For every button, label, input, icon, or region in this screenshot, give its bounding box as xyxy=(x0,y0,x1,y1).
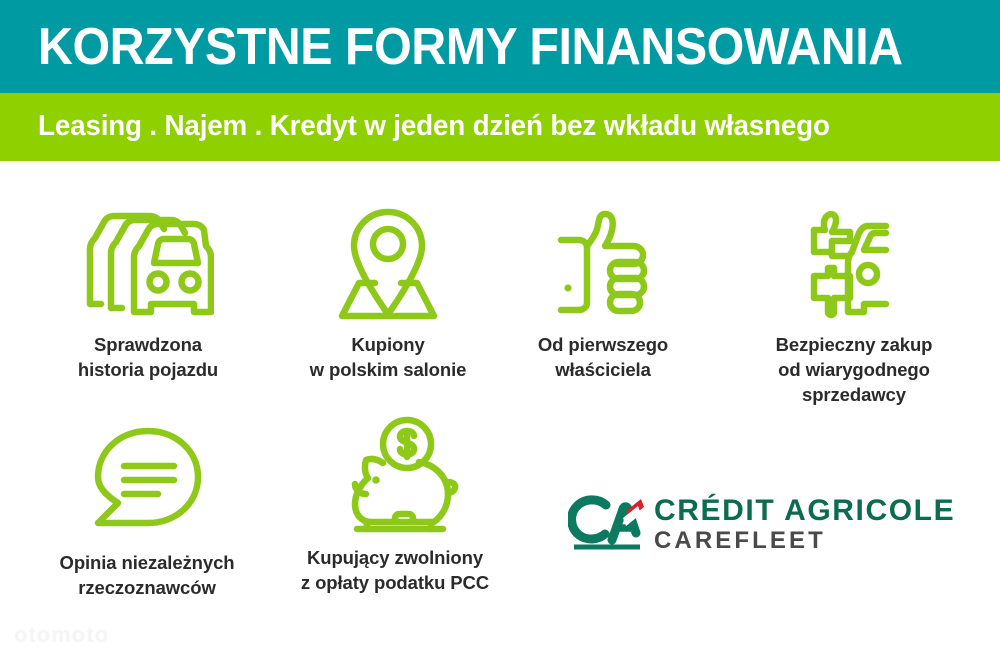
logo-product-name: CAREFLEET xyxy=(654,527,954,555)
piggy-bank-icon xyxy=(331,416,459,538)
feature-item-polish-dealership: Kupiony w polskim salonie xyxy=(268,201,508,382)
stacked-cars-icon xyxy=(82,208,214,320)
feature-caption: Opinia niezależnych rzeczoznawców xyxy=(22,550,272,600)
page-title: KORZYSTNE FORMY FINANSOWANIA xyxy=(38,20,903,74)
icon-container xyxy=(268,201,508,326)
feature-item-independent-opinion: Opinia niezależnych rzeczoznawców xyxy=(22,419,272,600)
feature-item-trusted-seller: Bezpieczny zakup od wiarygodnego sprzeda… xyxy=(730,201,978,407)
feature-caption: Od pierwszego właściciela xyxy=(494,332,712,382)
feature-item-vehicle-history: Sprawdzona historia pojazdu xyxy=(28,201,268,382)
feature-caption: Sprawdzona historia pojazdu xyxy=(28,332,268,382)
feature-item-first-owner: Od pierwszego właściciela xyxy=(494,201,712,382)
feature-caption: Bezpieczny zakup od wiarygodnego sprzeda… xyxy=(730,332,978,407)
feature-caption: Kupiony w polskim salonie xyxy=(268,332,508,382)
icon-container xyxy=(22,419,272,544)
thumbs-up-icon xyxy=(547,208,659,320)
feature-caption: Kupujący zwolniony z opłaty podatku PCC xyxy=(275,545,515,595)
logo-mark xyxy=(568,495,646,558)
feature-grid: Sprawdzona historia pojazdu Kupiony w po… xyxy=(0,161,1000,654)
logo-brand-name: CRÉDIT AGRICOLE xyxy=(654,494,954,527)
credit-agricole-carefleet-logo: CRÉDIT AGRICOLE CAREFLEET xyxy=(568,493,958,559)
logo-wordmark: CRÉDIT AGRICOLE CAREFLEET xyxy=(654,494,954,555)
icon-container xyxy=(28,201,268,326)
icon-container xyxy=(275,414,515,539)
feature-item-pcc-tax-exempt: Kupujący zwolniony z opłaty podatku PCC xyxy=(275,414,515,595)
handshake-car-icon xyxy=(792,208,916,320)
page-subtitle: Leasing . Najem . Kredyt w jeden dzień b… xyxy=(38,109,830,143)
watermark: otomoto xyxy=(14,622,109,648)
map-pin-icon xyxy=(334,204,442,324)
credit-agricole-ca-monogram-icon xyxy=(568,495,646,553)
icon-container xyxy=(494,201,712,326)
speech-bubble-icon xyxy=(88,425,206,539)
icon-container xyxy=(730,201,978,326)
